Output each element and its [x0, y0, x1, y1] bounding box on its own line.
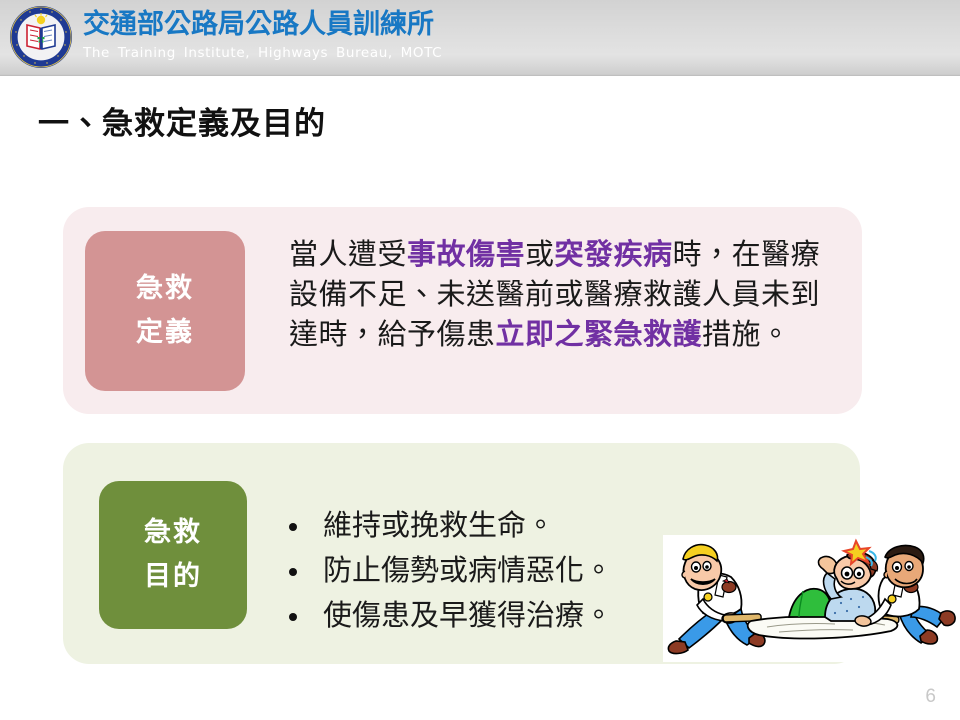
institute-name-english: The Training Institute, Highways Bureau,…	[83, 44, 442, 62]
purpose-bullet-list: 維持或挽救生命。防止傷勢或病情惡化。使傷患及早獲得治療。	[285, 503, 613, 638]
purpose-bullet-item: 維持或挽救生命。	[285, 503, 613, 548]
purpose-bullet-item: 使傷患及早獲得治療。	[285, 593, 613, 638]
definition-highlight-term: 立即之緊急救護	[496, 317, 703, 351]
institute-name-chinese: 交通部公路局公路人員訓練所	[83, 8, 442, 42]
definition-label-box: 急救 定義	[85, 231, 245, 391]
definition-label-line2: 定義	[136, 311, 194, 355]
page-header-band: 交通部公路局公路人員訓練所 The Training Institute, Hi…	[0, 0, 960, 76]
purpose-label-box: 急救 目的	[99, 481, 247, 629]
definition-label-line1: 急救	[136, 267, 194, 311]
stretcher-rescue-illustration	[663, 535, 960, 662]
definition-highlight-term: 事故傷害	[407, 237, 525, 271]
purpose-bullet-item: 防止傷勢或病情惡化。	[285, 548, 613, 593]
page-title: 一、急救定義及目的	[38, 98, 326, 143]
definition-plain-text: 當人遭受	[289, 237, 407, 271]
definition-plain-text: 措施。	[702, 317, 791, 351]
purpose-label-line2: 目的	[144, 555, 202, 599]
institute-crest-icon	[8, 4, 74, 70]
definition-plain-text: 或	[525, 237, 555, 271]
header-text-block: 交通部公路局公路人員訓練所 The Training Institute, Hi…	[83, 8, 442, 62]
definition-body-text: 當人遭受事故傷害或突發疾病時，在醫療設備不足、未送醫前或醫療救護人員未到達時，給…	[289, 234, 834, 354]
definition-highlight-term: 突發疾病	[555, 237, 673, 271]
page-number: 6	[925, 686, 936, 708]
purpose-label-line1: 急救	[144, 511, 202, 555]
